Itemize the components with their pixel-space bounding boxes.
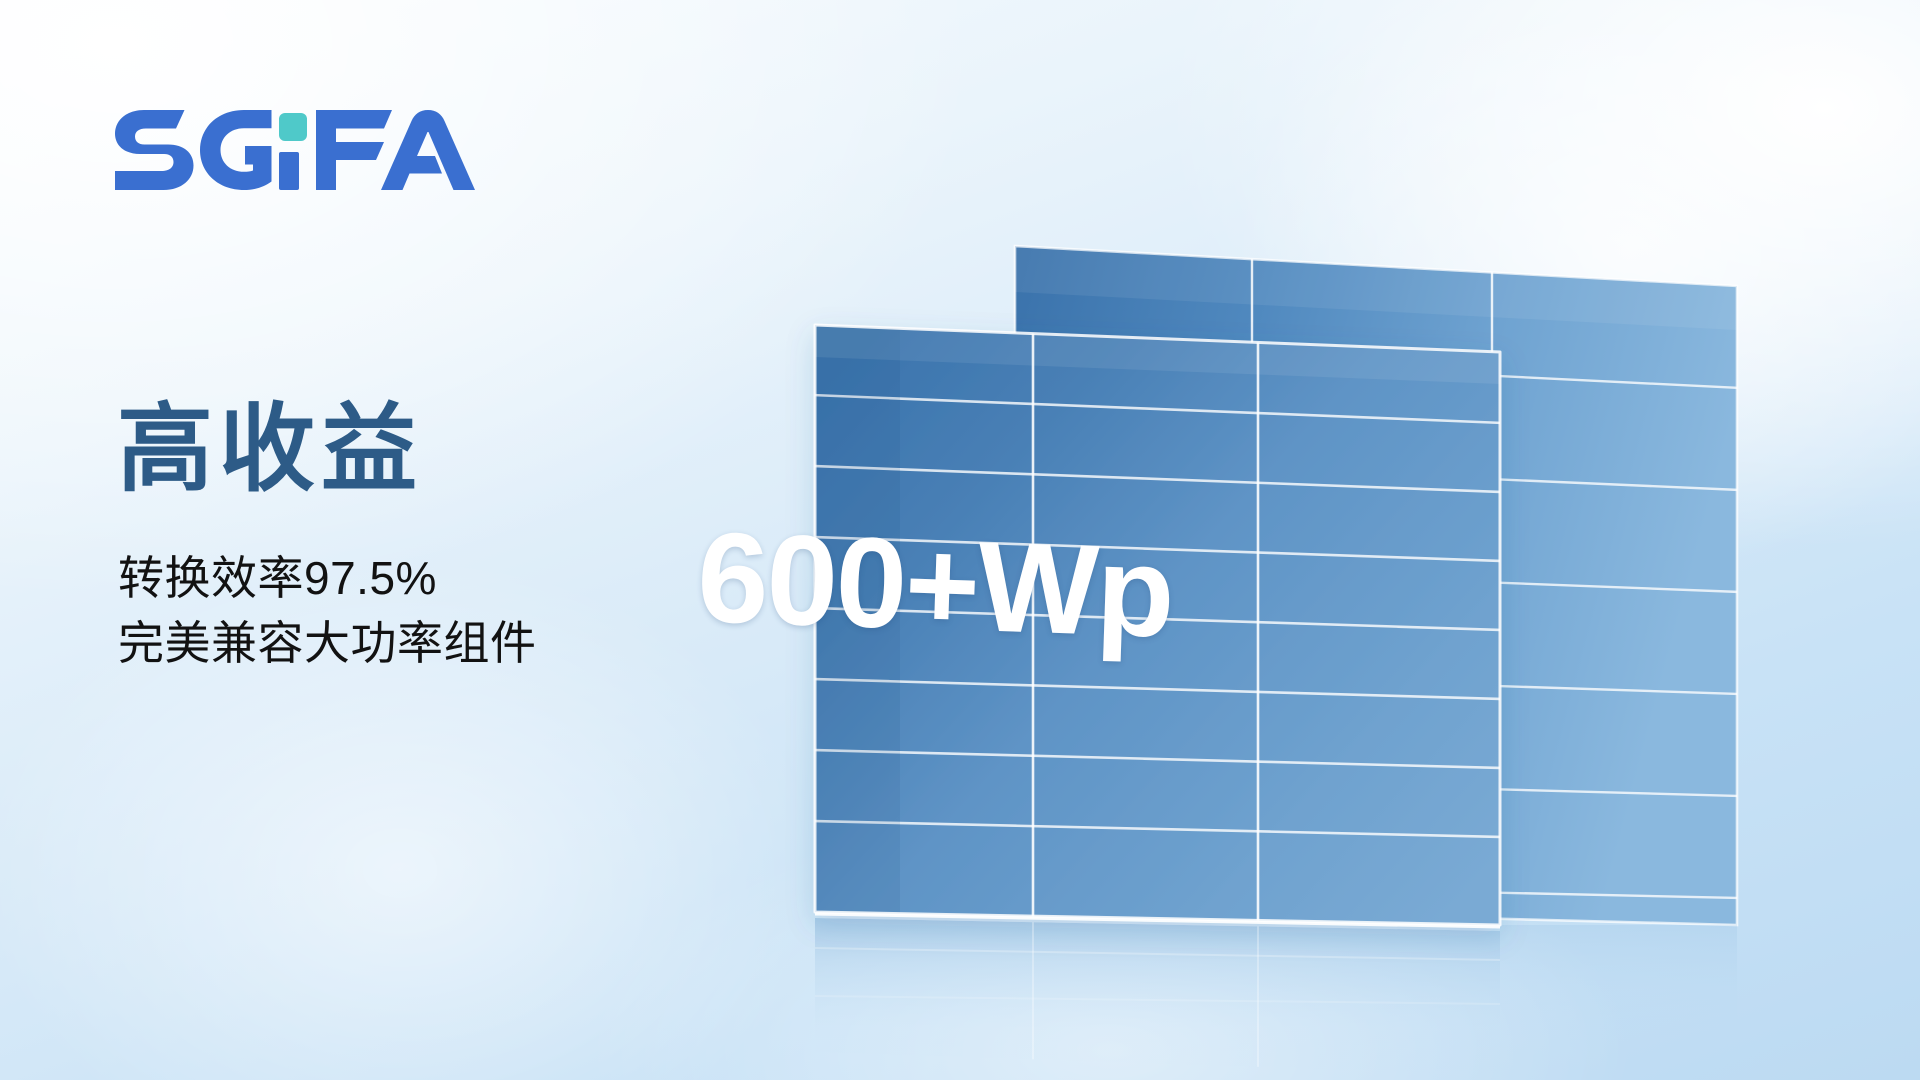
page-title: 高收益: [117, 396, 423, 504]
sofar-logo[interactable]: [112, 108, 484, 192]
solar-panel-back-reflection: [1500, 925, 1737, 1042]
subtitle-line-1: 转换效率97.5%: [118, 546, 537, 611]
logo-wordmark-icon: [115, 110, 475, 190]
banner-canvas: 600+Wp 高收益 转换效率97.5% 完美兼容大功率组件: [0, 0, 1920, 1080]
teal-square-accent: [279, 113, 307, 141]
background-glow-right: [1080, 0, 1920, 700]
solar-panel-base-highlight: [815, 914, 1500, 927]
subtitle-block: 转换效率97.5% 完美兼容大功率组件: [118, 546, 537, 677]
solar-panel-front-reflection: [812, 918, 1503, 1075]
background-glow-bottom: [360, 700, 1860, 1080]
subtitle-line-2: 完美兼容大功率组件: [118, 611, 537, 676]
wattage-badge: 600+Wp: [695, 504, 1175, 667]
